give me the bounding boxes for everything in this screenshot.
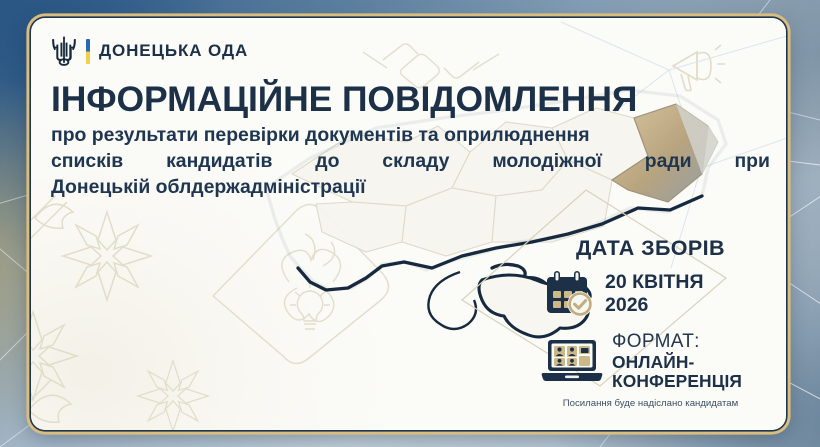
brand-header: ДОНЕЦЬКА ОДА bbox=[51, 36, 248, 66]
subtitle-word: молодіжної bbox=[492, 149, 602, 175]
folk-star-ornament-icon bbox=[31, 196, 315, 430]
lightbulb-icon bbox=[283, 283, 337, 341]
meeting-format-text: ФОРМАТ: ОНЛАЙН- КОНФЕРЕНЦІЯ bbox=[612, 332, 742, 391]
poster-canvas: ДОНЕЦЬКА ОДА ІНФОРМАЦІЙНЕ ПОВІДОМЛЕННЯ п… bbox=[0, 0, 820, 447]
meeting-date-value: 20 КВІТНЯ 2026 bbox=[605, 271, 704, 317]
subtitle-line-2: списків кандидатів до складу молодіжної … bbox=[51, 149, 770, 175]
format-value-line-1: ОНЛАЙН- bbox=[612, 352, 694, 372]
meeting-info-block: ДАТА ЗБОРІВ bbox=[537, 236, 764, 409]
page-title: ІНФОРМАЦІЙНЕ ПОВІДОМЛЕННЯ bbox=[51, 82, 766, 118]
subtitle-word: кандидатів bbox=[166, 149, 272, 175]
ukraine-flag-bar-icon bbox=[86, 39, 90, 64]
meeting-format-note: Посилання буде надіслано кандидатам bbox=[537, 398, 764, 409]
subtitle-word: складу bbox=[382, 149, 449, 175]
ukraine-trident-icon bbox=[51, 36, 77, 66]
format-value-line-2: КОНФЕРЕНЦІЯ bbox=[612, 371, 742, 391]
subtitle-word: при bbox=[734, 149, 769, 175]
meeting-date-year: 2026 bbox=[605, 294, 648, 316]
meeting-format-row: ФОРМАТ: ОНЛАЙН- КОНФЕРЕНЦІЯ bbox=[537, 332, 764, 391]
calendar-check-icon bbox=[545, 270, 595, 318]
page-subtitle: про результати перевірки документів та о… bbox=[51, 123, 770, 200]
meeting-date-row: 20 КВІТНЯ 2026 bbox=[537, 270, 764, 318]
meeting-format-value: ОНЛАЙН- КОНФЕРЕНЦІЯ bbox=[612, 353, 742, 391]
announcement-card: ДОНЕЦЬКА ОДА ІНФОРМАЦІЙНЕ ПОВІДОМЛЕННЯ п… bbox=[31, 18, 786, 430]
brand-name: ДОНЕЦЬКА ОДА bbox=[99, 41, 248, 61]
meeting-format-label: ФОРМАТ: bbox=[612, 332, 742, 353]
date-label: ДАТА ЗБОРІВ bbox=[537, 236, 764, 261]
subtitle-word: до bbox=[315, 149, 339, 175]
laptop-video-conference-icon bbox=[541, 338, 603, 384]
folk-flower-ornament-icon bbox=[201, 200, 401, 370]
subtitle-line-3: Донецькій облдержадміністрації bbox=[51, 175, 770, 201]
subtitle-word: списків bbox=[51, 149, 123, 175]
subtitle-line-1: про результати перевірки документів та о… bbox=[51, 123, 770, 149]
subtitle-word: ради bbox=[645, 149, 692, 175]
meeting-date-day-month: 20 КВІТНЯ bbox=[605, 271, 704, 293]
